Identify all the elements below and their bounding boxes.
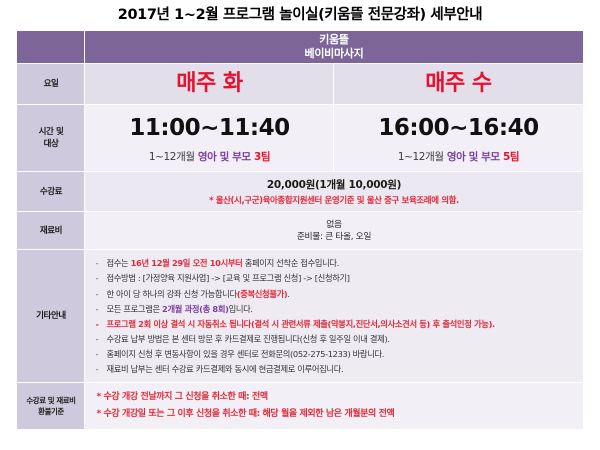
- row-label-refund-line1: 수강료 및 재료비: [17, 395, 84, 406]
- note-material-payment: -재료비 납부는 센터 수강료 카드결제와 동시에 현금결제로 이루어집니다.: [95, 362, 576, 377]
- note-absence-cancel: -프로그램 2회 이상 결석 시 자동취소 됩니다(결석 시 관련서류 제출(약…: [95, 317, 576, 332]
- table-header-row: 키움뜰 베이비마사지: [17, 31, 583, 64]
- note-application-path: -접수방법 : [가정양육 지원사업] -> [교육 및 프로그램 신청] ->…: [95, 271, 576, 286]
- day-value-right: 매주 수: [334, 73, 582, 95]
- row-label-refund: 수강료 및 재료비 환불기준: [17, 383, 85, 430]
- refund-policy-line-2: * 수강 개강일 또는 그 이후 신청을 취소한 때: 해당 월을 제외한 남은…: [96, 406, 576, 424]
- note-text-segment: 한 아이 당 하나의 강좌 신청 가능합니다: [106, 289, 236, 299]
- bullet-dash-icon: -: [95, 287, 106, 302]
- target-age-right: 1~12개월: [398, 151, 444, 163]
- material-value: 없음: [89, 219, 578, 232]
- note-text-segment: 수강료 납부 방법은 본 센터 방문 후 카드결제로 진행됩니다(신청 후 일주…: [106, 334, 389, 344]
- note-text-segment: 홈페이지 선착순 접수입니다.: [242, 258, 339, 268]
- note-application-open: -접수는 16년 12월 29일 오전 10시부터 홈페이지 선착순 접수입니다…: [95, 256, 576, 271]
- bullet-dash-icon: -: [95, 271, 106, 286]
- target-group-right: 영아 및 부모: [447, 151, 500, 163]
- notes-list: -접수는 16년 12월 29일 오전 10시부터 홈페이지 선착순 접수입니다…: [85, 250, 582, 382]
- bullet-dash-icon: -: [95, 317, 106, 332]
- refund-cell: * 수강 개강 전날까지 그 신청을 취소한 때: 전액* 수강 개강일 또는 …: [85, 383, 583, 430]
- time-cell-left: 11:00~11:40 1~12개월 영아 및 부모 3팀: [85, 105, 334, 172]
- table-row-notes: 기타안내 -접수는 16년 12월 29일 오전 10시부터 홈페이지 선착순 …: [17, 250, 583, 383]
- row-label-material: 재료비: [17, 212, 85, 250]
- row-label-notes: 기타안내: [17, 250, 85, 383]
- row-label-fee: 수강료: [17, 172, 85, 212]
- refund-list: * 수강 개강 전날까지 그 신청을 취소한 때: 전액* 수강 개강일 또는 …: [85, 384, 582, 429]
- schedule-table: 키움뜰 베이비마사지 요일 매주 화 매주 수 시간 및 대상: [16, 30, 583, 430]
- note-text-segment: 프로그램 2회 이상 결석 시 자동취소 됩니다(결석 시 관련서류 제출(약봉…: [106, 319, 494, 329]
- material-prepare: 준비물: 큰 타올, 오일: [89, 231, 578, 244]
- note-text-segment: 접수방법 : [가정양육 지원사업] -> [교육 및 프로그램 신청] -> …: [106, 273, 349, 283]
- table-row-material: 재료비 없음 준비물: 큰 타올, 오일: [17, 212, 583, 250]
- table-row-fee: 수강료 20,000원(1개월 10,000원) * 울산(시,구군)육아종합지…: [17, 172, 583, 212]
- fee-cell: 20,000원(1개월 10,000원) * 울산(시,구군)육아종합지원센터 …: [85, 172, 583, 212]
- notes-cell: -접수는 16년 12월 29일 오전 10시부터 홈페이지 선착순 접수입니다…: [85, 250, 583, 383]
- note-text-segment: 16년 12월 29일 오전 10시부터: [131, 258, 243, 268]
- note-text-segment: 홈페이지 신청 후 변동사항이 있을 경우 센터로 전화문의(052-275-1…: [106, 349, 384, 359]
- target-team-right: 5팀: [503, 151, 519, 163]
- bullet-dash-icon: -: [95, 256, 106, 271]
- program-name-cell: 키움뜰 베이비마사지: [85, 31, 583, 64]
- note-text-segment: (중복신청불가): [237, 289, 288, 299]
- row-label-time-line2: 대상: [17, 138, 84, 150]
- target-right: 1~12개월 영아 및 부모 5팀: [336, 151, 580, 164]
- note-text-segment: 2개월 과정(총 8회): [162, 304, 229, 314]
- note-text-segment: 입니다.: [229, 304, 253, 314]
- note-text-segment: 접수는: [106, 258, 130, 268]
- time-value-right: 16:00~16:40: [336, 115, 580, 141]
- page-title: 2017년 1~2월 프로그램 놀이실(키움뜰 전문강좌) 세부안내: [0, 0, 600, 30]
- target-age-left: 1~12개월: [149, 151, 195, 163]
- note-text-segment: 재료비 납부는 센터 수강료 카드결제와 동시에 현금결제로 이루어집니다.: [106, 364, 343, 374]
- fee-note: * 울산(시,구군)육아종합지원센터 운영기준 및 울산 중구 보육조례에 의함…: [89, 196, 578, 207]
- note-text-segment: .: [287, 289, 289, 299]
- note-text-segment: 모든 프로그램은: [106, 304, 162, 314]
- table-row-time: 시간 및 대상 11:00~11:40 1~12개월 영아 및 부모 3팀: [17, 105, 583, 172]
- program-name-line1: 키움뜰: [85, 33, 582, 48]
- note-payment-method: -수강료 납부 방법은 본 센터 방문 후 카드결제로 진행됩니다(신청 후 일…: [95, 332, 576, 347]
- target-group-left: 영아 및 부모: [198, 151, 251, 163]
- table-row-day: 요일 매주 화 매주 수: [17, 64, 583, 105]
- note-one-course-per-child: -한 아이 당 하나의 강좌 신청 가능합니다(중복신청불가).: [95, 287, 576, 302]
- bullet-dash-icon: -: [95, 362, 106, 377]
- bullet-dash-icon: -: [95, 347, 106, 362]
- material-cell: 없음 준비물: 큰 타올, 오일: [85, 212, 583, 250]
- day-cell-left: 매주 화: [85, 64, 334, 105]
- row-label-day: 요일: [17, 64, 85, 105]
- row-label-time: 시간 및 대상: [17, 105, 85, 172]
- note-change-contact: -홈페이지 신청 후 변동사항이 있을 경우 센터로 전화문의(052-275-…: [95, 347, 576, 362]
- day-value-left: 매주 화: [85, 73, 333, 95]
- day-cell-right: 매주 수: [334, 64, 583, 105]
- program-name-line2: 베이비마사지: [85, 47, 582, 62]
- target-team-left: 3팀: [254, 151, 270, 163]
- note-course-duration: -모든 프로그램은 2개월 과정(총 8회)입니다.: [95, 302, 576, 317]
- row-label-time-line1: 시간 및: [17, 126, 84, 138]
- row-label-refund-line2: 환불기준: [17, 406, 84, 417]
- header-corner-cell: [17, 31, 85, 64]
- fee-amount: 20,000원(1개월 10,000원): [89, 178, 578, 192]
- table-row-refund: 수강료 및 재료비 환불기준 * 수강 개강 전날까지 그 신청을 취소한 때:…: [17, 383, 583, 430]
- time-value-left: 11:00~11:40: [87, 115, 331, 141]
- schedule-page: 2017년 1~2월 프로그램 놀이실(키움뜰 전문강좌) 세부안내 키움뜰 베…: [0, 0, 600, 450]
- bullet-dash-icon: -: [95, 332, 106, 347]
- target-left: 1~12개월 영아 및 부모 3팀: [87, 151, 331, 164]
- refund-policy-line-1: * 수강 개강 전날까지 그 신청을 취소한 때: 전액: [96, 389, 576, 407]
- time-cell-right: 16:00~16:40 1~12개월 영아 및 부모 5팀: [334, 105, 583, 172]
- bullet-dash-icon: -: [95, 302, 106, 317]
